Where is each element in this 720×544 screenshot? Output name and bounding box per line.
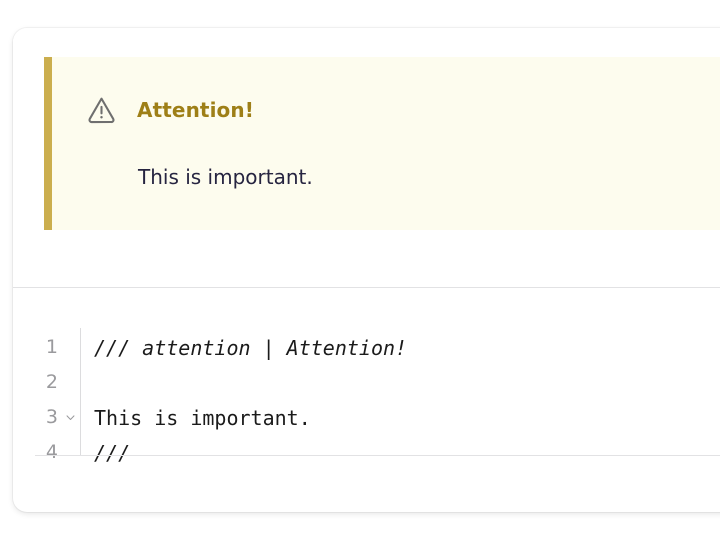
code-fold-toggle[interactable] (58, 412, 80, 423)
code-line-text: /// attention | Attention! (80, 338, 407, 358)
code-line-text: This is important. (80, 408, 311, 428)
rendered-preview-pane: Attention! This is important. (13, 28, 720, 287)
code-line-row[interactable]: 3This is important. (13, 400, 720, 435)
code-line-list: 1/// attention | Attention!23This is imp… (13, 330, 720, 470)
line-number: 1 (13, 338, 58, 357)
line-number: 2 (13, 373, 58, 392)
code-line-row[interactable]: 4/// (13, 435, 720, 470)
code-editor[interactable]: 1/// attention | Attention!23This is imp… (13, 288, 720, 456)
chevron-down-icon (65, 412, 76, 423)
admonition-body-text: This is important. (138, 164, 313, 191)
code-line-text: /// (80, 443, 130, 463)
code-line-row[interactable]: 1/// attention | Attention! (13, 330, 720, 365)
admonition-attention: Attention! This is important. (44, 57, 720, 230)
admonition-title-row: Attention! (86, 94, 254, 125)
line-number: 4 (13, 443, 58, 462)
editor-bottom-rule (35, 455, 720, 456)
preview-card: Attention! This is important. 1/// atten… (13, 28, 720, 512)
line-number: 3 (13, 408, 58, 427)
admonition-title: Attention! (137, 100, 254, 120)
warning-triangle-icon (86, 94, 117, 125)
code-line-row[interactable]: 2 (13, 365, 720, 400)
